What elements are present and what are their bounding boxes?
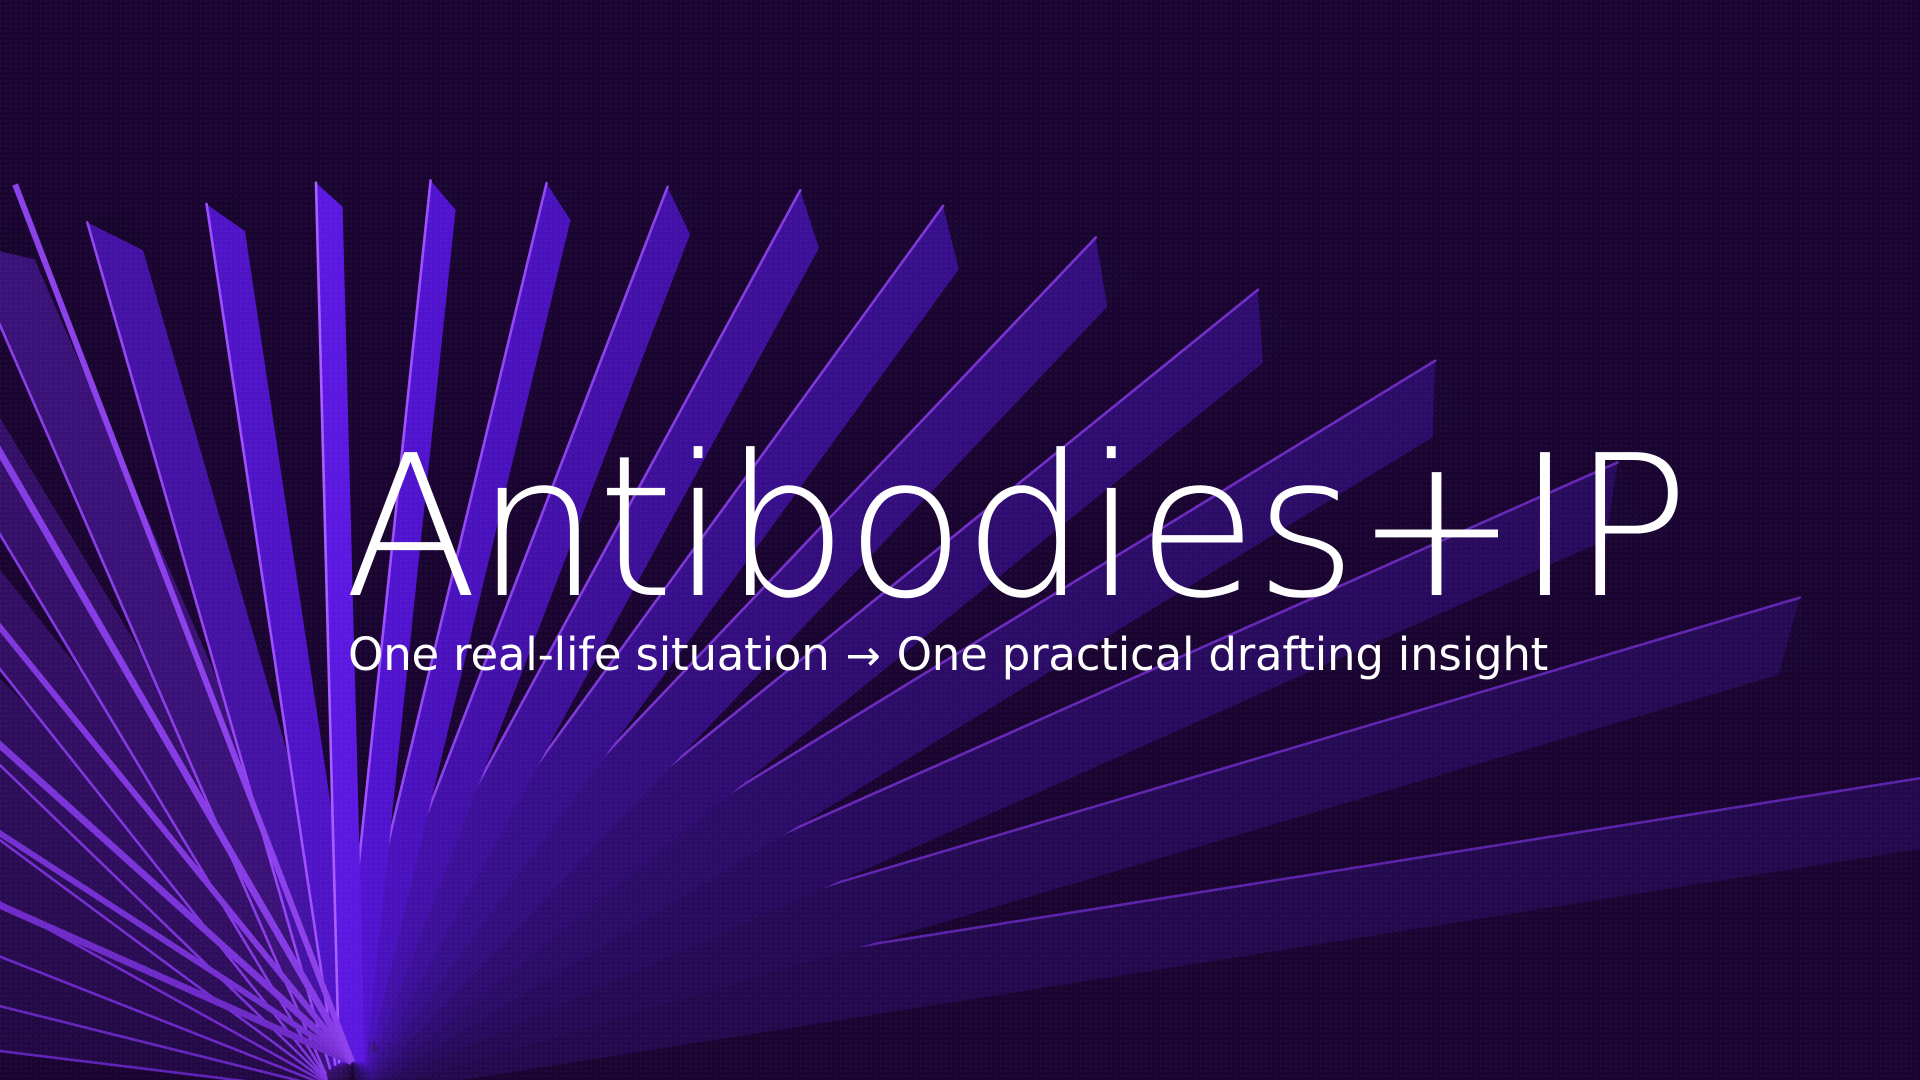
fan-blade — [87, 210, 374, 1069]
fan-blade-bevel — [943, 206, 983, 269]
fan-blade — [0, 630, 363, 1080]
title-slide: Antibodies+IP One real-life situation→On… — [0, 0, 1920, 1080]
fan-ray-body — [0, 477, 354, 1065]
fan-blade — [0, 220, 379, 1073]
fan-blade-edge-highlight — [0, 575, 337, 1080]
fan-blade — [0, 291, 376, 1080]
fan-blade-bevel — [316, 182, 343, 207]
fan-blade-bevel — [668, 187, 703, 234]
fan-ray — [0, 283, 354, 1064]
fan-ray-body — [0, 370, 354, 1064]
fan-ray — [12, 183, 354, 1063]
fan-blade-bevel — [547, 183, 578, 220]
fan-blade-bevel — [0, 220, 34, 259]
fan-blade — [347, 769, 1920, 1080]
fan-blade-body — [0, 645, 363, 1080]
fan-blade-edge-highlight — [0, 480, 334, 1080]
fan-blade-body — [0, 244, 379, 1074]
fan-blade-bevel — [431, 180, 459, 209]
fan-blade — [0, 521, 367, 1080]
fan-blade-body — [0, 381, 374, 1080]
fan-blade-body — [347, 769, 1920, 1080]
fan-blade-body — [333, 290, 1263, 1080]
fan-blade-body — [0, 455, 370, 1080]
fan-blade-body — [0, 541, 367, 1080]
fan-blade-body — [0, 324, 376, 1080]
fan-blade-body — [0, 892, 356, 1080]
subtitle-right-text: One practical drafting insight — [897, 628, 1549, 681]
fan-blade — [333, 290, 1296, 1080]
fan-blade-bevel — [207, 199, 245, 231]
arrow-right-icon: → — [830, 634, 897, 678]
fan-ray-body — [0, 611, 353, 1065]
fan-blade-body — [0, 280, 378, 1077]
fan-blade-body — [87, 222, 374, 1068]
slide-text-block: Antibodies+IP One real-life situation→On… — [344, 452, 1644, 678]
page-title: Antibodies+IP — [344, 452, 1644, 605]
fan-ray — [0, 611, 353, 1065]
fan-ray-body — [0, 220, 355, 1064]
fan-blade-edge-highlight — [316, 183, 339, 1063]
fan-blade-bevel — [1779, 598, 1819, 675]
fan-blade — [0, 886, 356, 1080]
fan-blade-bevel — [87, 210, 143, 250]
fan-blade-bevel — [1258, 290, 1296, 363]
fan-blade — [0, 430, 370, 1080]
fan-blade-body — [0, 766, 359, 1080]
fan-ray-body — [0, 283, 354, 1064]
fan-blade — [0, 249, 378, 1077]
fan-blade-edge-highlight — [0, 280, 326, 1077]
fan-blade-edge-highlight — [0, 397, 330, 1080]
fan-blade-edge-highlight — [0, 950, 348, 1080]
subtitle-left-text: One real-life situation — [348, 628, 830, 681]
fan-blade-edge-highlight — [0, 244, 325, 1074]
fan-blade-bevel — [1096, 238, 1137, 307]
fan-blade — [0, 756, 359, 1080]
fan-blade-edge-highlight — [207, 204, 336, 1064]
fan-blade — [0, 352, 374, 1080]
page-subtitle: One real-life situation→One practical dr… — [348, 631, 1644, 678]
fan-blade-edge-highlight — [347, 769, 1920, 1027]
fan-ray — [0, 370, 354, 1064]
fan-blade-edge-highlight — [0, 816, 345, 1080]
fan-ray — [0, 220, 355, 1064]
fan-blade-bevel — [800, 190, 839, 248]
fan-blade-edge-highlight — [87, 222, 330, 1068]
fan-ray-body — [12, 183, 354, 1063]
fan-blade-edge-highlight — [0, 688, 341, 1080]
fan-ray — [0, 477, 354, 1065]
fan-blade-edge-highlight — [0, 330, 328, 1080]
